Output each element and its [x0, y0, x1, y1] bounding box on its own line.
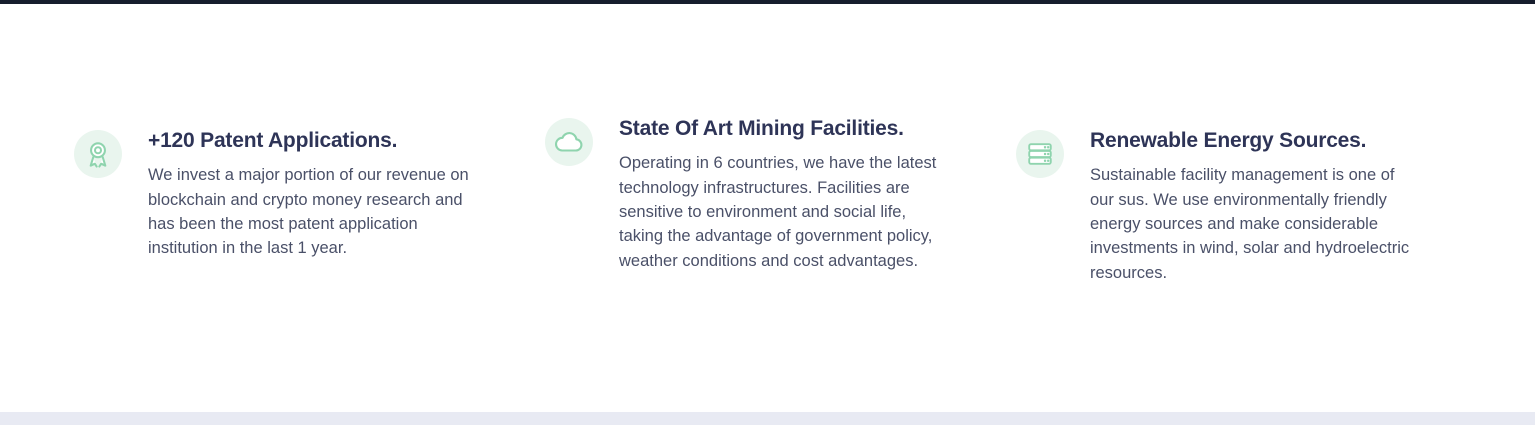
- feature-card-mining-facilities: State Of Art Mining Facilities. Operatin…: [545, 116, 965, 273]
- feature-body: +120 Patent Applications. We invest a ma…: [148, 128, 494, 261]
- server-rack-icon: [1016, 130, 1064, 178]
- feature-card-patent-applications: +120 Patent Applications. We invest a ma…: [74, 128, 494, 261]
- bottom-divider: [0, 412, 1535, 425]
- cloud-icon: [545, 118, 593, 166]
- feature-title: +120 Patent Applications.: [148, 128, 494, 153]
- feature-description: Operating in 6 countries, we have the la…: [619, 151, 944, 273]
- feature-title: Renewable Energy Sources.: [1090, 128, 1446, 153]
- feature-card-renewable-energy: Renewable Energy Sources. Sustainable fa…: [1016, 128, 1446, 285]
- feature-body: Renewable Energy Sources. Sustainable fa…: [1090, 128, 1446, 285]
- feature-description: Sustainable facility management is one o…: [1090, 163, 1420, 285]
- feature-description: We invest a major portion of our revenue…: [148, 163, 484, 261]
- feature-title: State Of Art Mining Facilities.: [619, 116, 965, 141]
- feature-body: State Of Art Mining Facilities. Operatin…: [619, 116, 965, 273]
- award-medal-icon: [74, 130, 122, 178]
- features-section: +120 Patent Applications. We invest a ma…: [0, 0, 1535, 412]
